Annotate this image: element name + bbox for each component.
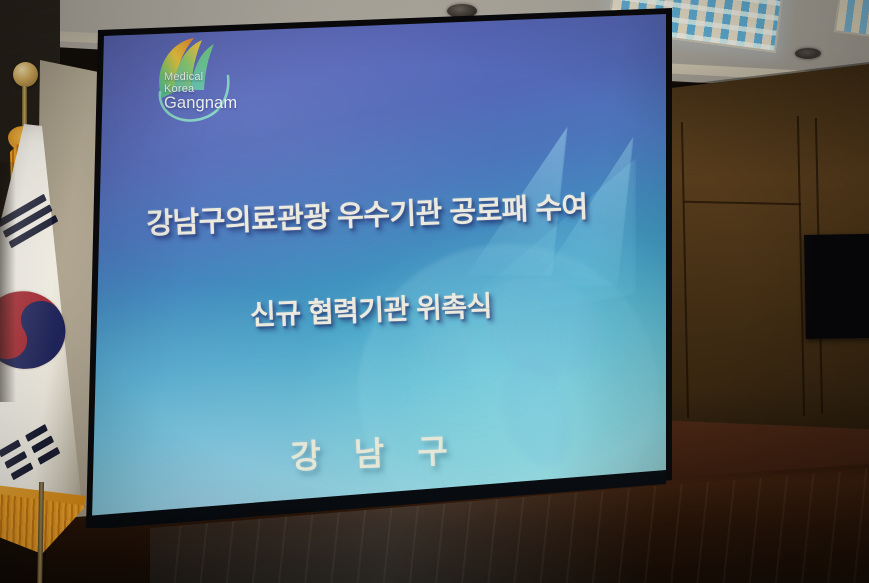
- slide-landmass-graphic: [492, 354, 580, 474]
- flag-left-shadow: [0, 162, 16, 402]
- recessed-downlight-icon: [795, 48, 821, 59]
- korean-national-flag: [0, 52, 98, 552]
- slide-landmass-graphic: [416, 308, 472, 368]
- slide-swoosh-graphic: [536, 136, 634, 286]
- wall-mounted-tv: [804, 233, 869, 339]
- photo-scene: Medical Korea Gangnam 강남구의료관광 우수기관 공로패 수…: [0, 0, 869, 583]
- slide-footer-org: 강 남 구: [86, 416, 669, 486]
- logo-text-block: Medical Korea Gangnam: [164, 72, 246, 112]
- flag-finial-icon: [13, 62, 38, 87]
- logo-line-gangnam: Gangnam: [164, 95, 246, 112]
- logo-line-medical: Medical: [164, 72, 246, 84]
- slide-landmass-graphic: [470, 262, 614, 390]
- slide-swoosh-graphic: [436, 158, 636, 328]
- projection-screen: Medical Korea Gangnam 강남구의료관광 우수기관 공로패 수…: [86, 8, 672, 528]
- slide-subtitle: 신규 협력기관 위촉식: [86, 278, 665, 340]
- slide-title: 강남구의료관광 우수기관 공로패 수여: [86, 181, 661, 245]
- slide-swoosh-graphic: [466, 126, 568, 276]
- medical-korea-gangnam-logo: Medical Korea Gangnam: [136, 32, 244, 124]
